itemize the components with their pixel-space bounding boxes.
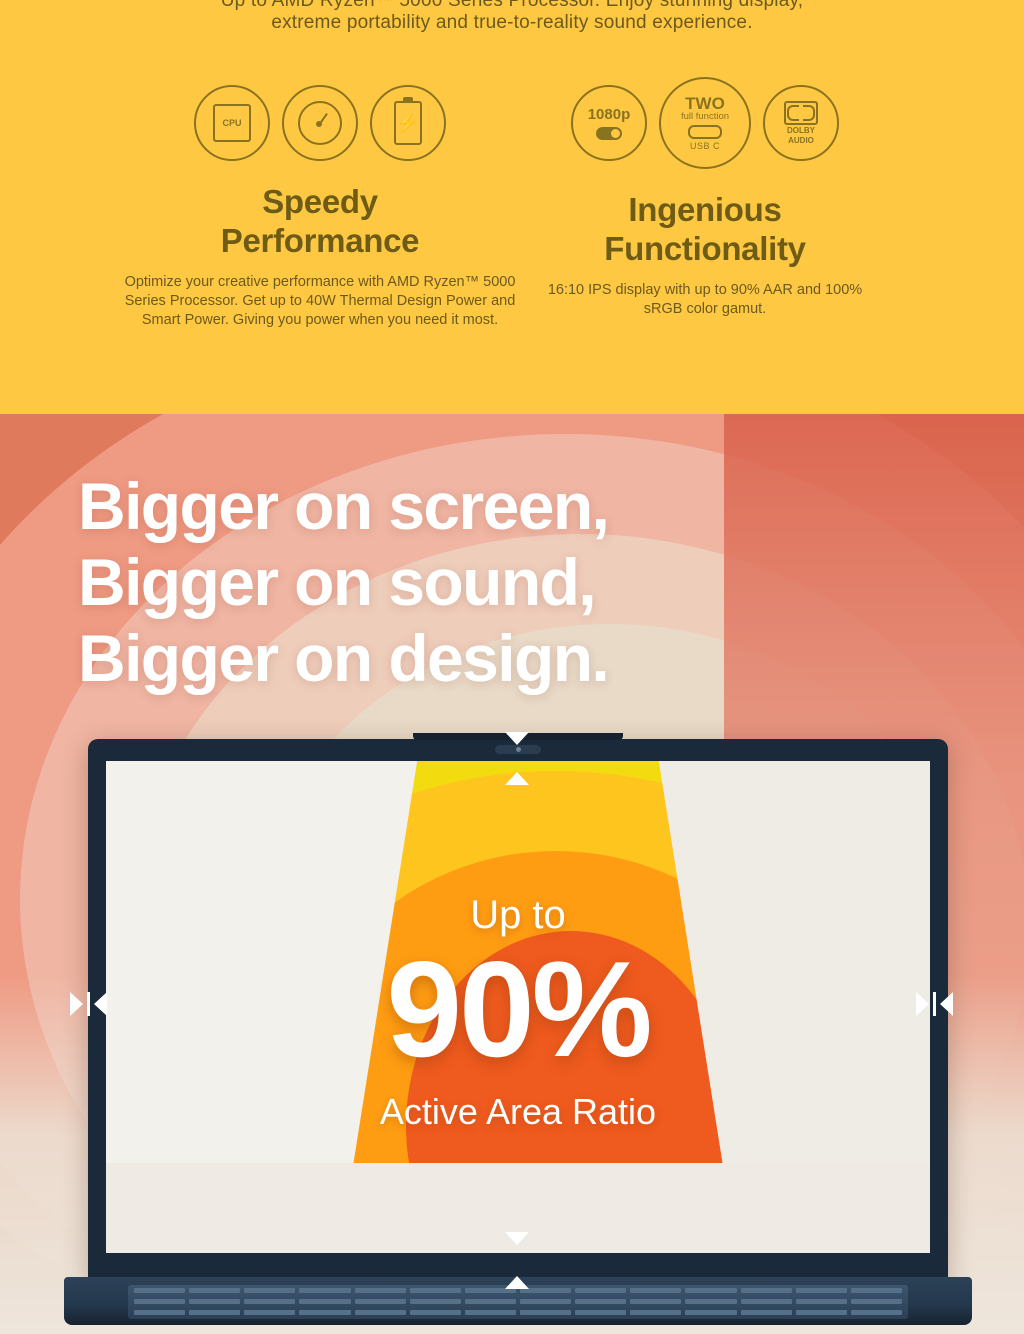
feature-title-left: Speedy Performance: [120, 183, 520, 261]
feature-icons-right: 1080p TWO full function USB C: [530, 85, 880, 169]
keyboard-row: [128, 1296, 908, 1307]
1080p-camera-icon: 1080p: [571, 85, 647, 161]
camera-shutter-shape: [596, 127, 622, 140]
feature-icons-left: CPU ⚡: [120, 85, 520, 161]
1080p-label: 1080p: [588, 106, 631, 123]
hero-title-line3: Bigger on design.: [78, 621, 608, 697]
keyboard-row: [128, 1307, 908, 1318]
feature-speedy-performance: CPU ⚡ Speedy Performance Optimize your c…: [120, 85, 520, 329]
cpu-icon: CPU: [194, 85, 270, 161]
feature-title-left-line2: Performance: [120, 222, 520, 261]
screen-text-block: Up to 90% Active Area Ratio: [106, 761, 930, 1253]
intro-line-2: extreme portability and true-to-reality …: [0, 12, 1024, 34]
feature-title-left-line1: Speedy: [120, 183, 520, 222]
speed-gauge-icon: [282, 85, 358, 161]
intro-line-1: Up to AMD Ryzen™ 5000 Series Processor. …: [0, 0, 1024, 12]
dolby-label-line1: DOLBY: [784, 127, 818, 135]
dolby-label-line2: AUDIO: [784, 137, 818, 145]
cpu-icon-label: CPU: [213, 104, 251, 142]
hero-section: Bigger on screen, Bigger on sound, Bigge…: [0, 414, 1024, 1334]
feature-ingenious-functionality: 1080p TWO full function USB C: [530, 85, 880, 319]
feature-title-right-line1: Ingenious: [530, 191, 880, 230]
features-panel: Up to AMD Ryzen™ 5000 Series Processor. …: [0, 0, 1024, 414]
usb-c-label: USB C: [681, 141, 729, 151]
laptop-keyboard: [128, 1285, 908, 1319]
usb-c-fullfunction-label: full function: [681, 112, 729, 122]
measure-marker-left: [70, 992, 107, 1016]
battery-shape: ⚡: [394, 101, 422, 145]
screen-caption: Active Area Ratio: [106, 1091, 930, 1133]
screen-percent-value: 90%: [106, 931, 930, 1087]
usb-c-icon: TWO full function USB C: [659, 77, 751, 169]
measure-marker-right: [916, 992, 953, 1016]
feature-body-right: 16:10 IPS display with up to 90% AAR and…: [530, 281, 880, 319]
feature-title-right: Ingenious Functionality: [530, 191, 880, 269]
feature-title-right-line2: Functionality: [530, 230, 880, 269]
webcam-icon: [495, 745, 541, 754]
measure-marker-top-inner: [505, 772, 529, 785]
hero-title: Bigger on screen, Bigger on sound, Bigge…: [78, 469, 608, 697]
laptop-image: Up to 90% Active Area Ratio: [88, 739, 948, 1299]
measure-marker-bottom: [505, 1276, 529, 1289]
measure-marker-top: [505, 732, 529, 745]
gauge-shape: [298, 101, 342, 145]
feature-body-left: Optimize your creative performance with …: [120, 273, 520, 330]
battery-bolt-icon: ⚡: [370, 85, 446, 161]
dolby-audio-icon: DOLBY AUDIO: [763, 85, 839, 161]
laptop-lid: Up to 90% Active Area Ratio: [88, 739, 948, 1284]
laptop-screen: Up to 90% Active Area Ratio: [106, 761, 930, 1253]
measure-marker-bottom-inner: [505, 1232, 529, 1245]
hero-title-line1: Bigger on screen,: [78, 469, 608, 545]
usb-c-count-label: TWO: [681, 95, 729, 112]
product-page: Up to AMD Ryzen™ 5000 Series Processor. …: [0, 0, 1024, 1334]
dolby-logo-shape: [784, 101, 818, 125]
usb-c-port-shape: [688, 125, 722, 139]
hero-title-line2: Bigger on sound,: [78, 545, 608, 621]
